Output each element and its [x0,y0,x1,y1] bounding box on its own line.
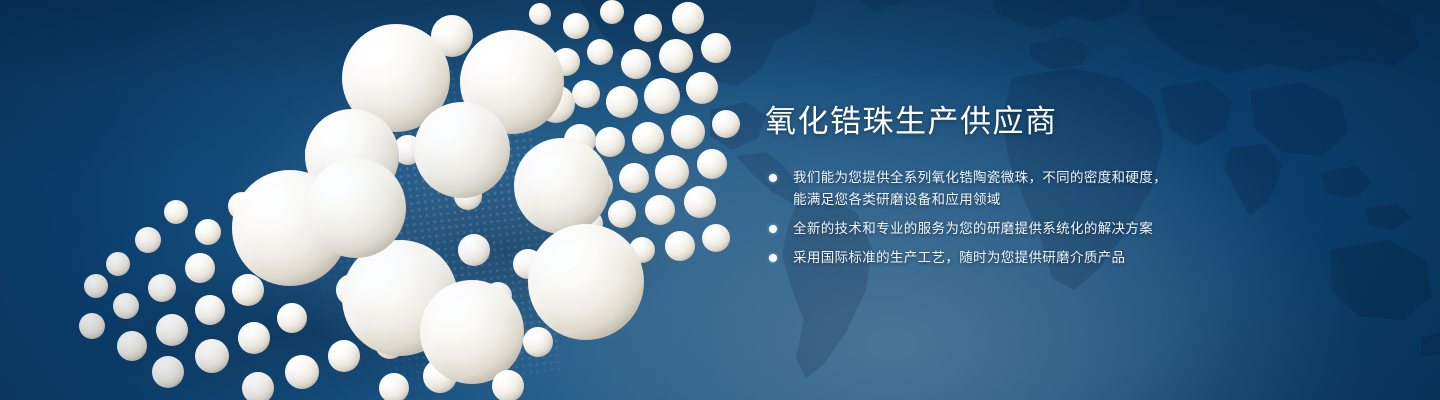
feature-list: 我们能为您提供全系列氧化锆陶瓷微珠，不同的密度和硬度， 能满足您各类研磨设备和应… [765,167,1365,269]
list-item: 我们能为您提供全系列氧化锆陶瓷微珠，不同的密度和硬度， 能满足您各类研磨设备和应… [765,167,1365,211]
banner-headline: 氧化锆珠生产供应商 [765,104,1365,141]
bullet-text-line1: 我们能为您提供全系列氧化锆陶瓷微珠，不同的密度和硬度， [793,170,1167,185]
banner-content: 氧化锆珠生产供应商 我们能为您提供全系列氧化锆陶瓷微珠，不同的密度和硬度， 能满… [765,104,1365,269]
bullet-text-line1: 采用国际标准的生产工艺，随时为您提供研磨介质产品 [793,250,1125,265]
hero-banner: 氧化锆珠生产供应商 我们能为您提供全系列氧化锆陶瓷微珠，不同的密度和硬度， 能满… [0,0,1440,400]
list-item: 全新的技术和专业的服务为您的研磨提供系统化的解决方案 [765,218,1365,240]
bullet-text-line2: 能满足您各类研磨设备和应用领域 [793,189,1365,211]
bullet-dot-icon [769,225,777,233]
bullet-text-line1: 全新的技术和专业的服务为您的研磨提供系统化的解决方案 [793,221,1153,236]
bullet-dot-icon [769,174,777,182]
list-item: 采用国际标准的生产工艺，随时为您提供研磨介质产品 [765,247,1365,269]
bullet-dot-icon [769,254,777,262]
